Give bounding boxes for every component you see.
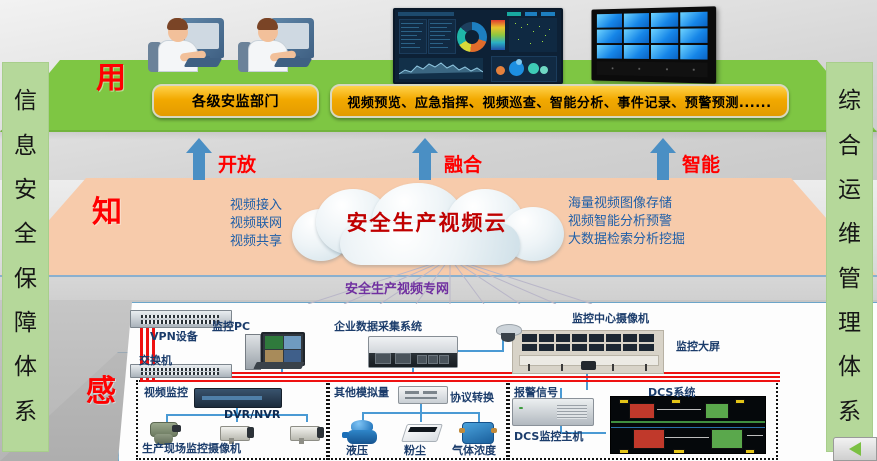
dome-camera-icon <box>496 324 520 342</box>
banner-right-char-0: 综 <box>838 90 861 113</box>
dvr-nvr-icon <box>194 388 282 408</box>
private-network-label: 安全生产视频专网 <box>345 278 449 297</box>
video-wall-grid <box>597 12 708 60</box>
chevron-left-icon <box>849 442 861 456</box>
protocol-converter-icon <box>398 386 448 404</box>
group-label-hydraulic: 液压 <box>346 442 368 458</box>
arrow-up-open-icon <box>186 138 212 180</box>
group-title-video-surveillance: 视频监控 <box>144 384 188 400</box>
device-label-center-camera: 监控中心摄像机 <box>572 310 649 326</box>
keyboard-icon <box>184 58 223 67</box>
bi-dashboard-image <box>393 8 563 84</box>
application-functions-box[interactable]: 视频预览、应急指挥、视频巡查、智能分析、事件记录、预警预测...... <box>330 84 789 118</box>
donut-chart-icon <box>457 22 487 52</box>
group-label-dcs-host: DCS监控主机 <box>514 428 583 444</box>
cloud-right-capabilities: 海量视频图像存储 视频智能分析预警 大数据检索分析挖掘 <box>560 195 798 249</box>
bubble-chart-panel <box>491 56 557 82</box>
dcs-host-icon <box>512 398 594 426</box>
sidebar-integrated-om-system: 综 合 运 维 管 理 体 系 <box>826 62 873 452</box>
group-label-gas: 气体浓度 <box>452 442 496 458</box>
arrow-label-open: 开放 <box>218 150 256 177</box>
dust-sensor-icon <box>401 424 443 442</box>
banner-right-char-3: 维 <box>838 223 861 246</box>
operator-1 <box>146 8 226 80</box>
banner-left-char-0: 信 <box>14 90 37 113</box>
diagram-canvas: 信 息 安 全 保 障 体 系 综 合 运 维 管 理 体 系 用 知 感 <box>0 0 877 461</box>
application-layer-shadow <box>0 130 877 140</box>
big-screen-wall <box>522 334 654 351</box>
scroll-corner-control[interactable] <box>833 437 877 461</box>
device-label-data-collect: 企业数据采集系统 <box>334 318 422 334</box>
group-label-site-cameras: 生产现场监控摄像机 <box>142 440 241 456</box>
wire-server-to-camera <box>456 350 504 352</box>
stage-label-sense: 感 <box>86 377 116 407</box>
operator-2 <box>236 8 316 80</box>
video-wall-image <box>588 8 714 82</box>
banner-right-char-2: 运 <box>838 179 861 202</box>
scatter-panel <box>509 18 557 52</box>
banner-right-char-4: 管 <box>838 268 861 291</box>
banner-right-char-6: 体 <box>838 356 861 379</box>
banner-right-char-7: 系 <box>838 401 861 424</box>
group-title-alarm-signals: 报警信号 <box>514 384 558 400</box>
cloud-title: 安全生产视频云 <box>288 207 566 237</box>
banner-left-char-4: 保 <box>14 268 37 291</box>
bus-line-horizontal-1 <box>140 372 780 374</box>
arrow-up-smart-icon <box>650 138 676 180</box>
arrow-up-fuse-icon <box>412 138 438 180</box>
bus-line-horizontal-2 <box>140 376 780 378</box>
group-label-dust: 粉尘 <box>404 442 426 458</box>
device-label-big-screen: 监控大屏 <box>676 338 720 354</box>
banner-left-char-2: 安 <box>14 179 37 202</box>
keyboard-icon <box>274 58 313 67</box>
banner-left-char-7: 系 <box>14 401 37 424</box>
banner-right-char-1: 合 <box>838 135 861 158</box>
arrow-label-fuse: 融合 <box>444 150 482 177</box>
banner-left-char-1: 息 <box>14 135 37 158</box>
group-label-dvr-nvr: DVR/NVR <box>224 408 280 421</box>
device-label-switch: 交换机 <box>139 352 172 368</box>
area-chart-panel <box>399 58 483 79</box>
group-title-analog-signals: 其他模拟量 <box>334 384 389 400</box>
banner-left-char-6: 体 <box>14 356 37 379</box>
banner-right-char-5: 理 <box>838 312 861 335</box>
banner-left-char-3: 全 <box>14 223 37 246</box>
banner-left-char-5: 障 <box>14 312 37 335</box>
group-label-protocol-convert: 协议转换 <box>450 389 494 405</box>
hydraulic-sensor-icon <box>346 420 378 444</box>
dcs-hmi-screen <box>610 396 766 454</box>
stage-label-use: 用 <box>96 64 126 94</box>
arrow-label-smart: 智能 <box>682 150 720 177</box>
operators-at-computers-image <box>146 8 316 80</box>
device-label-monitor-pc: 监控PC <box>212 318 250 334</box>
safety-supervision-depts-box[interactable]: 各级安监部门 <box>152 84 319 118</box>
gas-concentration-sensor-icon <box>462 422 494 444</box>
pc-keyboard-icon <box>253 362 304 369</box>
stage-label-know: 知 <box>92 198 122 228</box>
sidebar-information-security-system: 信 息 安 全 保 障 体 系 <box>2 62 49 452</box>
bus-line-horizontal-3 <box>140 380 780 382</box>
control-room-photo <box>512 330 664 374</box>
data-collection-server-icon <box>368 336 458 368</box>
bullet-camera-icon-2 <box>290 422 324 444</box>
device-label-vpn: VPN设备 <box>150 328 198 344</box>
cloud-left-capabilities: 视频接入 视频联网 视频共享 <box>130 197 282 251</box>
color-scale-icon <box>491 20 505 50</box>
group-title-dcs-system: DCS系统 <box>648 384 695 400</box>
pc-monitor-icon <box>261 332 305 366</box>
